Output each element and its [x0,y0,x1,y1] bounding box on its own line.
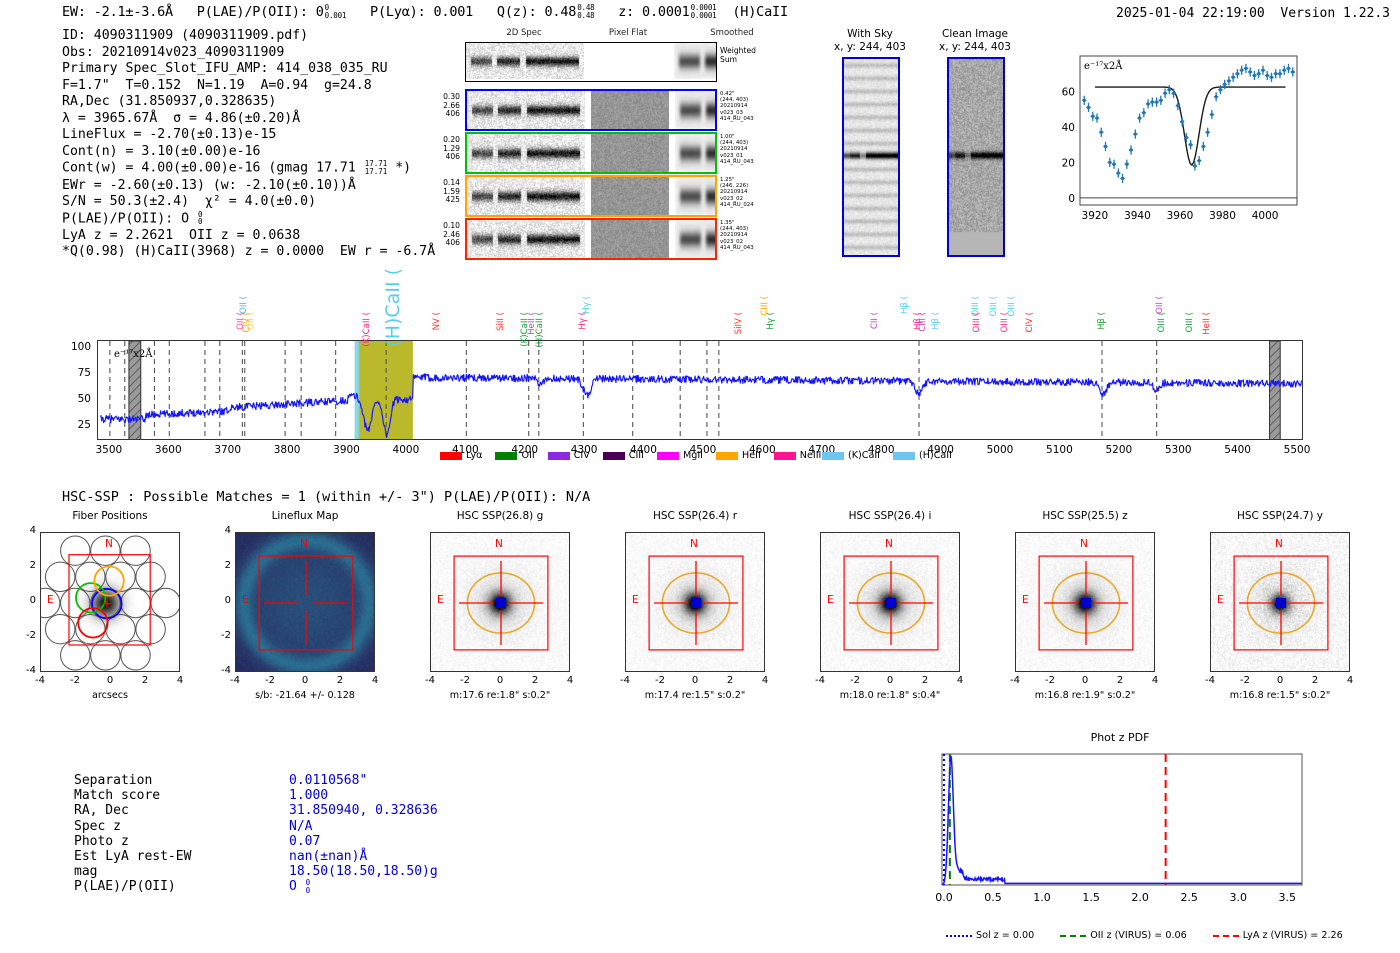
match-key-0: Separation [74,773,152,788]
match-value-4: 0.07 [289,834,320,849]
hsc-xtick: 0 [682,675,708,686]
phot-z-legend-swatch [1060,935,1086,937]
hsc-panel-caption-6: m:16.8 re:1.5" s:0.2" [1182,690,1378,701]
phot-z-legend-item: OII z (VIRUS) = 0.06 [1060,930,1187,941]
svg-text:0.0: 0.0 [935,891,953,904]
hsc-xtick: 2 [132,675,158,686]
hsc-ytick: 2 [213,560,231,571]
hsc-panel-title-1: Lineflux Map [215,510,395,522]
hsc-xtick: 0 [97,675,123,686]
phot-z-legend-item: LyA z (VIRUS) = 2.26 [1213,930,1343,941]
compass-east-1: E [242,594,249,606]
match-key-4: Photo z [74,834,129,849]
match-key-7: P(LAE)/P(OII) [74,879,176,894]
hsc-panel-title-4: HSC SSP(26.4) i [800,510,980,522]
hsc-xtick: 0 [1072,675,1098,686]
hsc-xtick: 0 [292,675,318,686]
compass-north-0: N [105,538,113,550]
hsc-xtick: 0 [1267,675,1293,686]
hsc-xtick: 4 [1142,675,1168,686]
hsc-xtick: 2 [522,675,548,686]
hsc-panel-image-6 [1210,532,1350,672]
hsc-panel-image-1 [235,532,375,672]
hsc-xtick: -2 [452,675,478,686]
compass-east-4: E [827,594,834,606]
hsc-xtick: 4 [947,675,973,686]
hsc-panel-caption-5: m:16.8 re:1.9" s:0.2" [987,690,1183,701]
match-value-7: O 00 [289,879,310,894]
phot-z-legend-label: OII z (VIRUS) = 0.06 [1090,930,1187,941]
hsc-xtick: 4 [167,675,193,686]
phot-z-legend-swatch [1213,935,1239,937]
hsc-panel-title-6: HSC SSP(24.7) y [1190,510,1370,522]
hsc-panel-image-4 [820,532,960,672]
hsc-xtick: 2 [912,675,938,686]
compass-east-5: E [1022,594,1029,606]
hsc-xtick: 0 [487,675,513,686]
hsc-panel-caption-0: arcsecs [12,690,208,701]
hsc-ytick: -4 [18,665,36,676]
hsc-xtick: -2 [257,675,283,686]
hsc-xtick: -4 [1197,675,1223,686]
compass-east-3: E [632,594,639,606]
phot-z-pdf-title: Phot z PDF [934,731,1306,744]
compass-east-0: E [47,594,54,606]
hsc-panel-caption-3: m:17.4 re:1.5" s:0.2" [597,690,793,701]
match-key-2: RA, Dec [74,803,129,818]
hsc-xtick: 4 [362,675,388,686]
match-key-6: mag [74,864,97,879]
match-value-5: nan(±nan)Å [289,849,367,864]
match-key-5: Est LyA rest-EW [74,849,191,864]
compass-north-1: N [300,538,308,550]
phot-z-legend: Sol z = 0.00OII z (VIRUS) = 0.06LyA z (V… [946,930,1343,941]
hsc-xtick: -4 [417,675,443,686]
phot-z-legend-swatch [946,935,972,937]
match-value-2: 31.850940, 0.328636 [289,803,438,818]
hsc-xtick: 4 [1337,675,1363,686]
compass-north-5: N [1080,538,1088,550]
hsc-ytick: -2 [213,630,231,641]
hsc-panel-title-0: Fiber Positions [20,510,200,522]
hsc-panel-title-5: HSC SSP(25.5) z [995,510,1175,522]
match-value-1: 1.000 [289,788,328,803]
hsc-xtick: 2 [1302,675,1328,686]
hsc-panel-image-0 [40,532,180,672]
match-key-1: Match score [74,788,160,803]
svg-text:3.0: 3.0 [1229,891,1247,904]
hsc-panel-caption-4: m:18.0 re:1.8" s:0.4" [792,690,988,701]
match-value-3: N/A [289,819,312,834]
compass-north-4: N [885,538,893,550]
compass-north-3: N [690,538,698,550]
hsc-xtick: 2 [717,675,743,686]
svg-text:2.0: 2.0 [1131,891,1149,904]
hsc-image-row: Fiber PositionsNE-4-4-2-2002244arcsecsLi… [0,0,1400,720]
hsc-xtick: -2 [1037,675,1063,686]
hsc-xtick: -2 [647,675,673,686]
hsc-xtick: 0 [877,675,903,686]
hsc-ytick: 2 [18,560,36,571]
hsc-ytick: -2 [18,630,36,641]
match-value-0: 0.0110568" [289,773,367,788]
hsc-panel-title-3: HSC SSP(26.4) r [605,510,785,522]
hsc-xtick: -4 [222,675,248,686]
hsc-xtick: 2 [327,675,353,686]
hsc-xtick: -2 [62,675,88,686]
compass-east-2: E [437,594,444,606]
hsc-panel-title-2: HSC SSP(26.8) g [410,510,590,522]
phot-z-legend-item: Sol z = 0.00 [946,930,1034,941]
svg-text:1.5: 1.5 [1082,891,1100,904]
hsc-xtick: -2 [842,675,868,686]
hsc-ytick: 0 [213,595,231,606]
hsc-xtick: 2 [1107,675,1133,686]
hsc-xtick: 4 [752,675,778,686]
svg-text:3.5: 3.5 [1279,891,1297,904]
phot-z-legend-label: LyA z (VIRUS) = 2.26 [1243,930,1343,941]
compass-north-2: N [495,538,503,550]
hsc-xtick: 4 [557,675,583,686]
phot-z-legend-label: Sol z = 0.00 [976,930,1034,941]
phot-z-pdf-plot: 0.00.51.01.52.02.53.03.5 [934,748,1306,911]
hsc-xtick: -4 [807,675,833,686]
hsc-panel-caption-2: m:17.6 re:1.8" s:0.2" [402,690,598,701]
hsc-ytick: 0 [18,595,36,606]
compass-north-6: N [1275,538,1283,550]
hsc-ytick: 4 [213,525,231,536]
hsc-ytick: -4 [213,665,231,676]
hsc-xtick: -4 [612,675,638,686]
svg-text:1.0: 1.0 [1033,891,1051,904]
hsc-ytick: 4 [18,525,36,536]
hsc-xtick: -4 [1002,675,1028,686]
hsc-panel-image-3 [625,532,765,672]
hsc-panel-image-5 [1015,532,1155,672]
svg-text:2.5: 2.5 [1180,891,1198,904]
hsc-panel-caption-1: s/b: -21.64 +/- 0.128 [207,690,403,701]
hsc-xtick: -2 [1232,675,1258,686]
match-key-3: Spec z [74,819,121,834]
match-value-6: 18.50(18.50,18.50)g [289,864,438,879]
hsc-xtick: -4 [27,675,53,686]
compass-east-6: E [1217,594,1224,606]
svg-text:0.5: 0.5 [984,891,1002,904]
hsc-panel-image-2 [430,532,570,672]
